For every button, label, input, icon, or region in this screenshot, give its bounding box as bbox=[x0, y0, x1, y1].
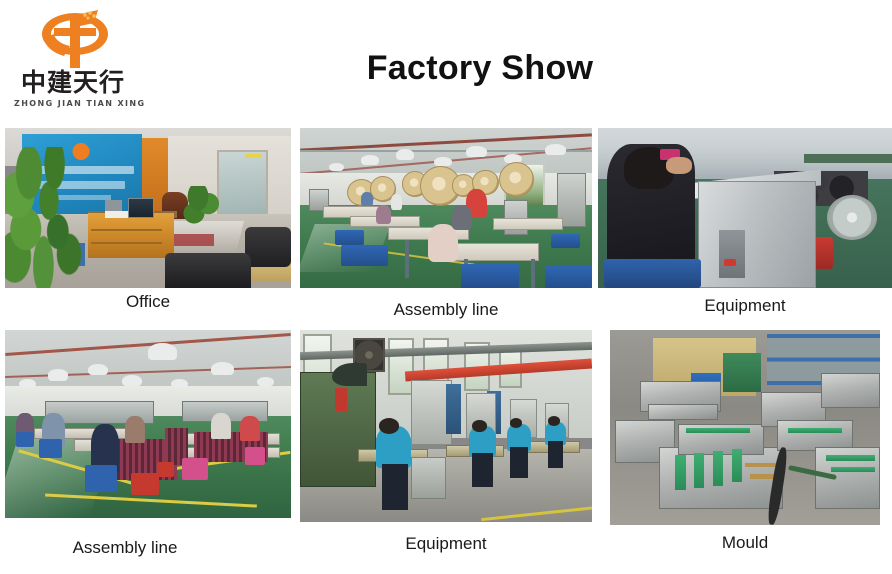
green-insert bbox=[675, 455, 686, 490]
gallery-photo-office bbox=[5, 128, 291, 288]
steel-machine bbox=[698, 181, 816, 288]
green-insert bbox=[732, 449, 743, 482]
bench-leg bbox=[405, 240, 409, 278]
overhead-rack bbox=[804, 154, 892, 164]
worker-trousers bbox=[548, 441, 563, 468]
desk-seam-2 bbox=[91, 242, 163, 244]
logo-mark-icon bbox=[36, 8, 114, 72]
caption-assembly-line-2: Assembly line bbox=[5, 538, 245, 558]
caption-assembly-line-1: Assembly line bbox=[300, 300, 592, 320]
blue-bin bbox=[461, 264, 519, 288]
blue-stool bbox=[16, 432, 33, 447]
caption-equipment-2: Equipment bbox=[300, 534, 592, 554]
worker bbox=[125, 416, 145, 442]
potted-plant-right bbox=[182, 186, 222, 231]
blue-stool bbox=[85, 465, 116, 491]
machine-column bbox=[446, 384, 461, 434]
red-canister bbox=[335, 388, 347, 411]
cable-reel bbox=[499, 162, 534, 197]
pendant-lamp bbox=[88, 364, 108, 375]
blue-bin bbox=[335, 230, 364, 244]
pink-stool bbox=[245, 447, 265, 466]
green-insert bbox=[826, 455, 875, 461]
worker bbox=[428, 224, 457, 262]
logo-chinese-name: 中建天行 bbox=[16, 68, 130, 98]
sofa-right bbox=[245, 227, 291, 267]
blue-bin bbox=[341, 245, 388, 266]
red-crate bbox=[157, 462, 174, 477]
worker bbox=[240, 416, 260, 440]
page-header: 中建天行 ZHONG JIAN TIAN XING Factory Show bbox=[0, 0, 892, 124]
door-sign bbox=[245, 154, 262, 159]
power-button bbox=[724, 259, 736, 265]
control-panel bbox=[719, 230, 745, 278]
gallery-photo-mould bbox=[610, 330, 880, 525]
reception-desk bbox=[88, 213, 174, 258]
pendant-lamp bbox=[122, 375, 142, 386]
caption-equipment-1: Equipment bbox=[598, 296, 892, 316]
gallery-photo-equipment-1 bbox=[598, 128, 892, 288]
worker-trousers bbox=[472, 453, 492, 488]
blue-bin bbox=[551, 234, 580, 248]
gallery-photo-assembly-line-2 bbox=[5, 330, 291, 518]
bench-leg bbox=[531, 259, 535, 288]
mould-die bbox=[648, 404, 718, 420]
window bbox=[388, 338, 414, 396]
worker bbox=[376, 205, 391, 224]
pendant-lamp bbox=[434, 157, 452, 167]
pendant-lamp bbox=[48, 369, 68, 380]
caption-mould: Mould bbox=[610, 533, 880, 553]
desk-seam-1 bbox=[91, 229, 163, 231]
green-insert bbox=[694, 453, 705, 488]
logo-pinyin: ZHONG JIAN TIAN XING bbox=[14, 98, 132, 110]
worker bbox=[361, 192, 373, 206]
pendant-lamp bbox=[396, 149, 414, 160]
glass-door bbox=[217, 150, 268, 220]
brass-pin bbox=[745, 463, 777, 468]
gallery-photo-equipment-2 bbox=[300, 330, 592, 522]
gallery-photo-assembly-line-1 bbox=[300, 128, 592, 288]
red-crate bbox=[131, 473, 160, 496]
red-mat bbox=[174, 234, 214, 247]
papers bbox=[105, 211, 128, 217]
blue-bin bbox=[545, 266, 592, 288]
pendant-lamp bbox=[257, 377, 274, 386]
pendant-lamp bbox=[466, 146, 486, 157]
green-insert bbox=[831, 467, 874, 473]
worker-head bbox=[510, 418, 522, 428]
pendant-lamp bbox=[329, 163, 344, 171]
green-board bbox=[723, 353, 761, 392]
worker-trousers bbox=[382, 464, 408, 510]
blue-stool bbox=[39, 439, 62, 458]
worker bbox=[391, 194, 403, 210]
machine-arm bbox=[332, 363, 367, 386]
blue-bin bbox=[604, 259, 701, 288]
company-logo: 中建天行 ZHONG JIAN TIAN XING bbox=[14, 6, 132, 114]
worker bbox=[211, 413, 231, 439]
pendant-lamp bbox=[148, 343, 177, 360]
green-insert bbox=[713, 451, 724, 486]
pendant-lamp bbox=[545, 144, 565, 155]
work-bench bbox=[493, 218, 563, 231]
green-insert bbox=[788, 428, 842, 434]
fan-icon bbox=[827, 195, 877, 240]
mould-die bbox=[821, 373, 880, 408]
worker-head bbox=[472, 420, 487, 432]
potted-plant-left bbox=[5, 147, 85, 288]
sofa-front bbox=[165, 253, 251, 288]
tool-cart bbox=[411, 457, 446, 499]
worker-head bbox=[548, 416, 560, 426]
monitor bbox=[128, 198, 154, 217]
green-insert bbox=[686, 428, 751, 434]
worker-trousers bbox=[510, 447, 528, 478]
worker bbox=[452, 205, 472, 231]
page-title: Factory Show bbox=[300, 44, 660, 92]
worker-head bbox=[379, 418, 399, 433]
caption-office: Office bbox=[5, 292, 291, 312]
pendant-lamp bbox=[171, 379, 188, 388]
worker-hand bbox=[666, 157, 692, 175]
pendant-lamp bbox=[19, 379, 36, 388]
pink-stool bbox=[182, 458, 208, 481]
pendant-lamp bbox=[211, 362, 234, 375]
pendant-lamp bbox=[361, 155, 379, 165]
